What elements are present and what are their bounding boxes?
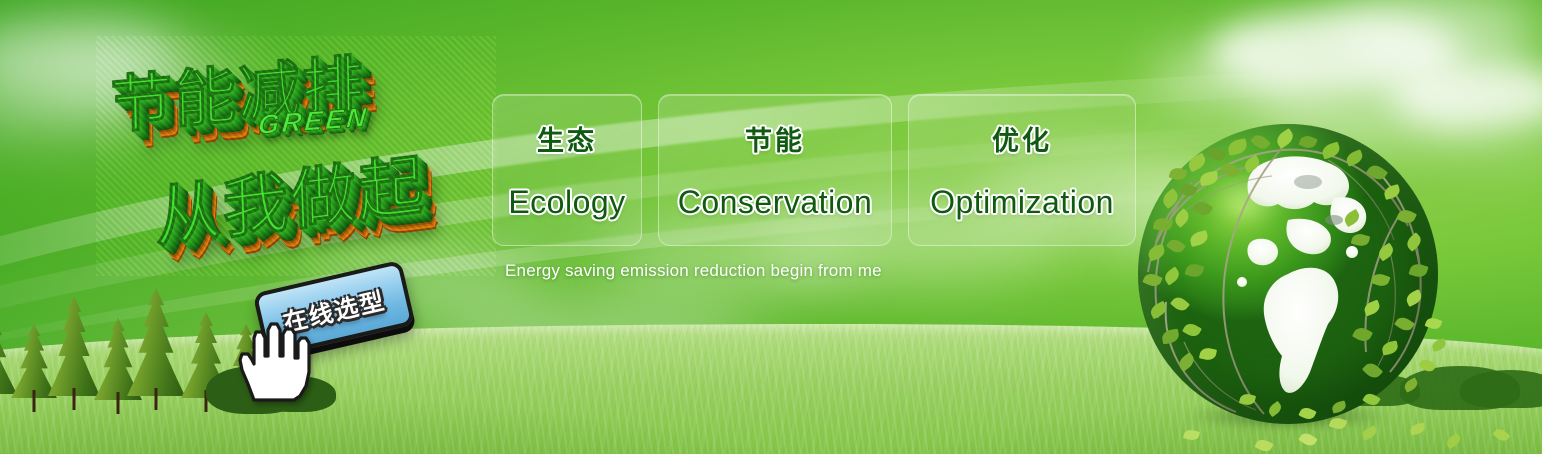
feature-card-en-label: Conservation [678, 184, 873, 221]
feature-card-optimization[interactable]: 优化 Optimization [908, 94, 1136, 246]
feature-card-cn-label: 优化 [992, 119, 1052, 158]
feature-card-list: 生态 Ecology 节能 Conservation 优化 Optimizati… [492, 94, 1136, 246]
feature-card-ecology[interactable]: 生态 Ecology [492, 94, 642, 246]
eco-banner: 节能减排 GREEN 从我做起 在线选型 生态 Ecology 节能 Conse… [0, 0, 1542, 454]
feature-card-cn-label: 生态 [537, 119, 597, 158]
feature-card-en-label: Optimization [930, 184, 1114, 221]
pointing-hand-cursor-icon [238, 316, 312, 402]
bush-icon [1460, 370, 1542, 408]
feature-card-cn-label: 节能 [745, 119, 805, 158]
tagline-text: Energy saving emission reduction begin f… [505, 261, 882, 281]
feature-card-conservation[interactable]: 节能 Conservation [658, 94, 892, 246]
ivy-globe [1132, 122, 1444, 434]
feature-card-en-label: Ecology [508, 184, 625, 221]
